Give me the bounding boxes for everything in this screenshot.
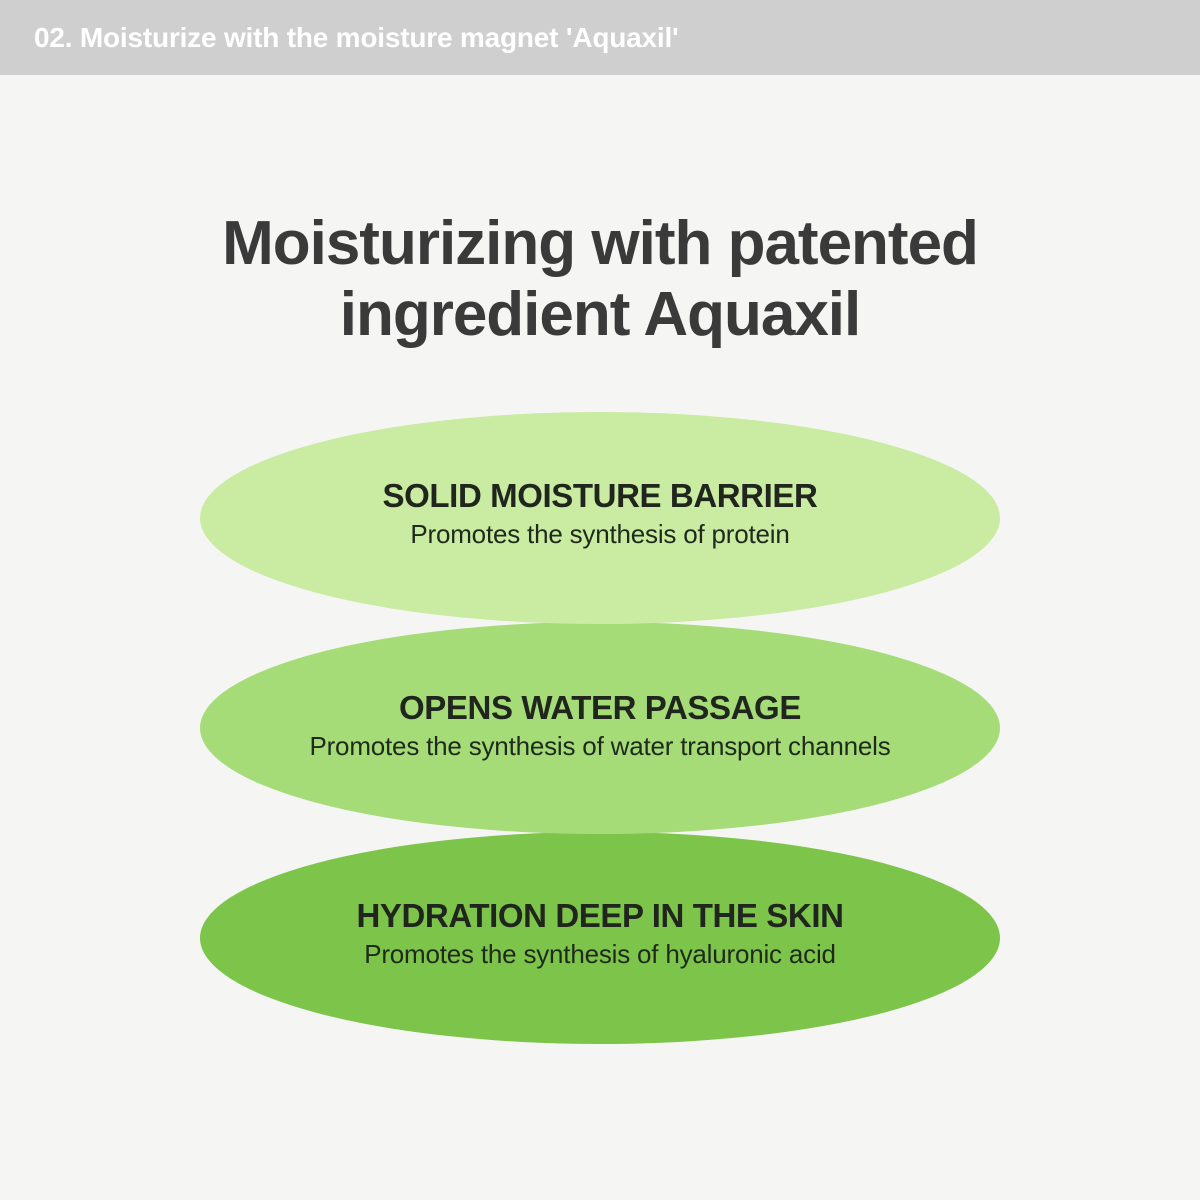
benefit-textblock: SOLID MOISTURE BARRIER Promotes the synt… — [383, 477, 818, 550]
benefit-textblock: HYDRATION DEEP IN THE SKIN Promotes the … — [356, 897, 843, 970]
benefit-heading: OPENS WATER PASSAGE — [309, 689, 890, 727]
section-banner-label: 02. Moisturize with the moisture magnet … — [0, 24, 679, 52]
benefit-heading: SOLID MOISTURE BARRIER — [383, 477, 818, 515]
page-title-line-1: Moisturizing with patented — [0, 208, 1200, 280]
benefit-subtitle: Promotes the synthesis of water transpor… — [309, 731, 890, 762]
benefit-subtitle: Promotes the synthesis of protein — [383, 519, 818, 550]
page-title: Moisturizing with patented ingredient Aq… — [0, 208, 1200, 352]
benefit-textblock: OPENS WATER PASSAGE Promotes the synthes… — [309, 689, 890, 762]
benefit-ellipse-opens-water-passage: OPENS WATER PASSAGE Promotes the synthes… — [200, 622, 1000, 834]
page-title-line-2: ingredient Aquaxil — [0, 279, 1200, 351]
benefit-ellipse-hydration-deep-in-the-skin: HYDRATION DEEP IN THE SKIN Promotes the … — [200, 832, 1000, 1044]
benefit-ellipse-solid-moisture-barrier: SOLID MOISTURE BARRIER Promotes the synt… — [200, 412, 1000, 624]
benefit-ellipse-stack: HYDRATION DEEP IN THE SKIN Promotes the … — [200, 412, 1000, 1044]
section-banner: 02. Moisturize with the moisture magnet … — [0, 0, 1200, 75]
benefit-heading: HYDRATION DEEP IN THE SKIN — [356, 897, 843, 935]
benefit-subtitle: Promotes the synthesis of hyaluronic aci… — [356, 939, 843, 970]
